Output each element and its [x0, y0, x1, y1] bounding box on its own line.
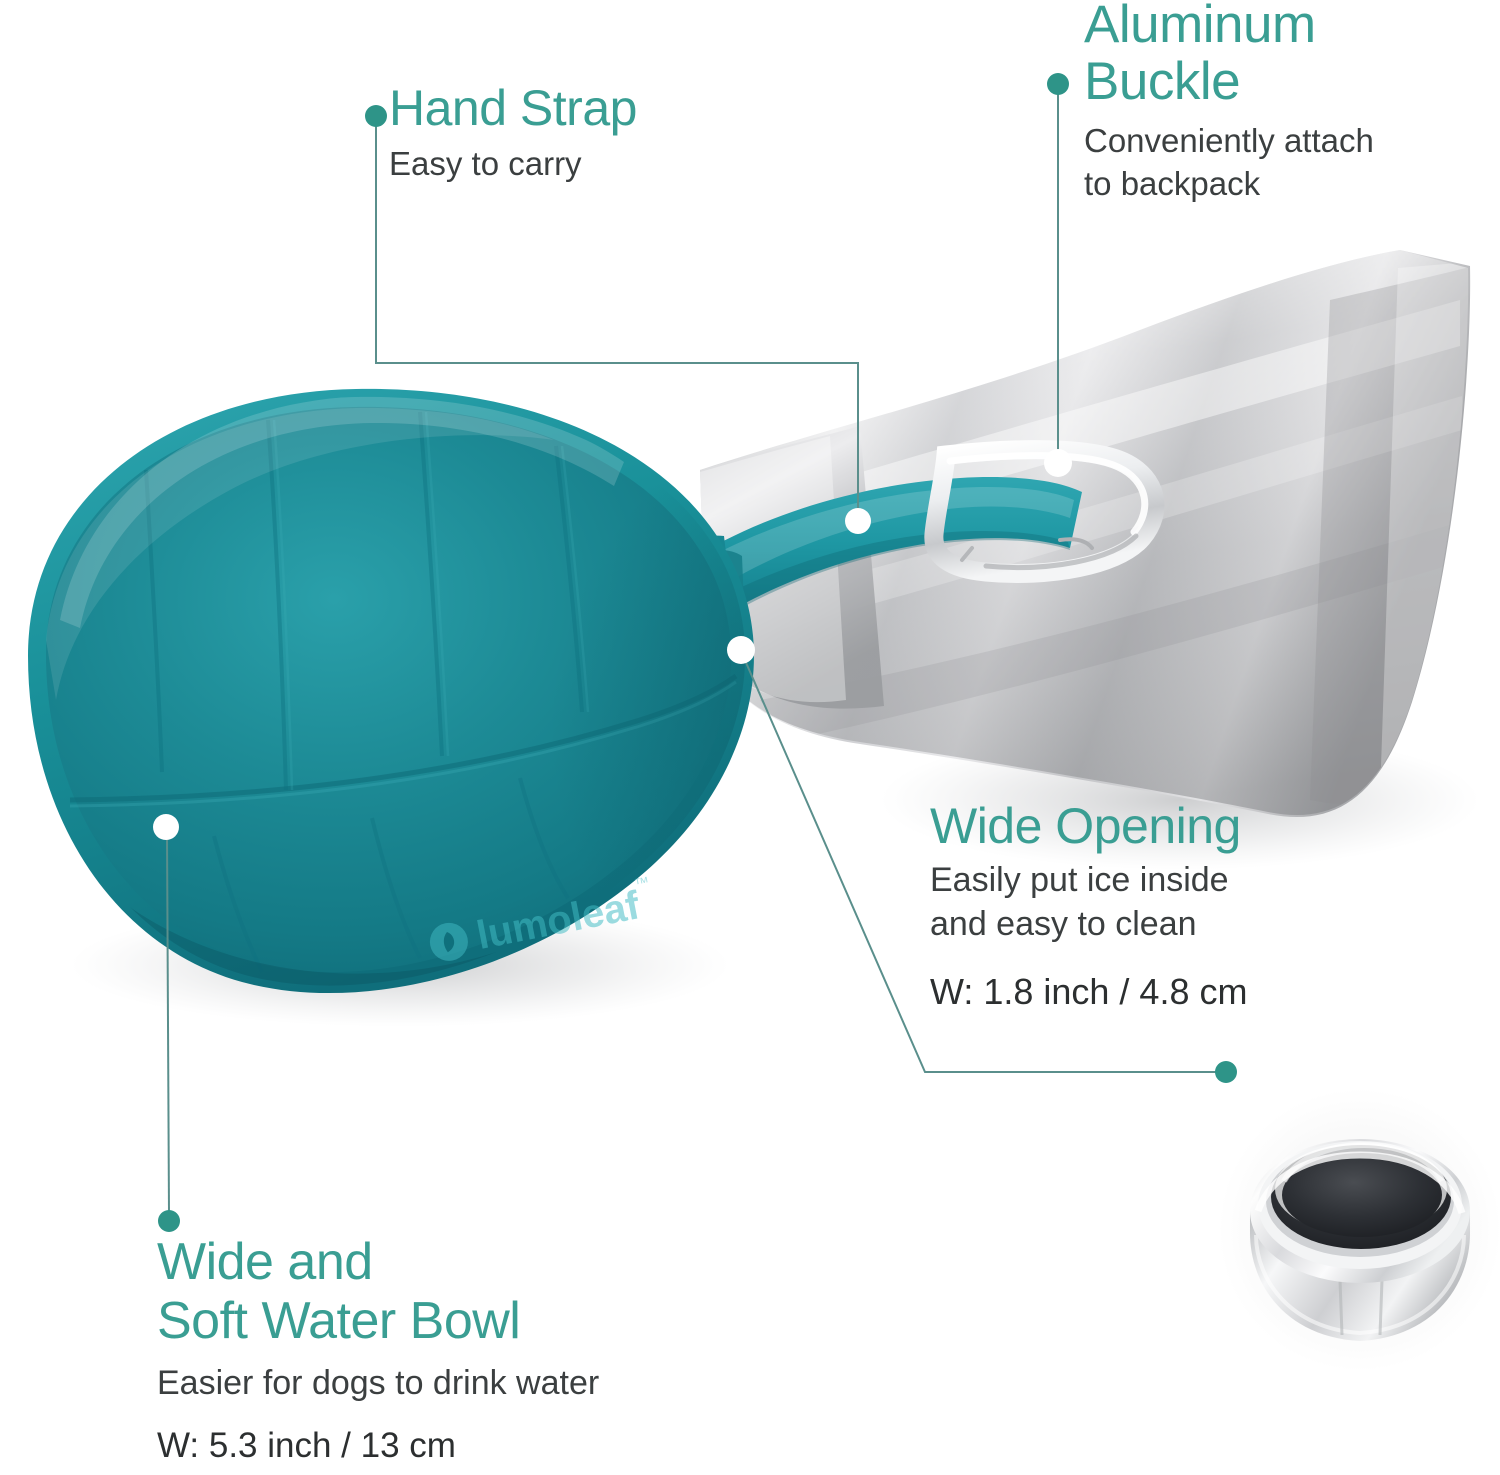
callout-hand-strap: Hand Strap Easy to carry — [389, 82, 637, 185]
infographic-page: lumoleaf ™ — [0, 0, 1500, 1475]
callout-hand-strap-title: Hand Strap — [389, 82, 637, 135]
callout-aluminum-buckle: Aluminum Buckle Conveniently attach to b… — [1084, 0, 1374, 205]
callout-aluminum-buckle-title: Aluminum Buckle — [1084, 0, 1374, 110]
callout-water-bowl-subtitle: Easier for dogs to drink water — [157, 1362, 599, 1406]
callout-wide-opening-subtitle: Easily put ice inside and easy to clean — [930, 859, 1247, 946]
callout-aluminum-buckle-subtitle: Conveniently attach to backpack — [1084, 120, 1374, 204]
callout-water-bowl: Wide and Soft Water Bowl Easier for dogs… — [157, 1233, 599, 1467]
callout-wide-opening: Wide Opening Easily put ice inside and e… — [930, 800, 1247, 1013]
callout-wide-opening-title: Wide Opening — [930, 800, 1247, 853]
callout-water-bowl-title: Wide and Soft Water Bowl — [157, 1233, 599, 1352]
callout-hand-strap-subtitle: Easy to carry — [389, 143, 637, 185]
leader-aluminum-buckle — [1044, 73, 1072, 477]
callout-water-bowl-measure: W: 5.3 inch / 13 cm — [157, 1425, 599, 1467]
callout-wide-opening-measure: W: 1.8 inch / 4.8 cm — [930, 970, 1247, 1013]
leader-water-bowl — [153, 814, 180, 1232]
